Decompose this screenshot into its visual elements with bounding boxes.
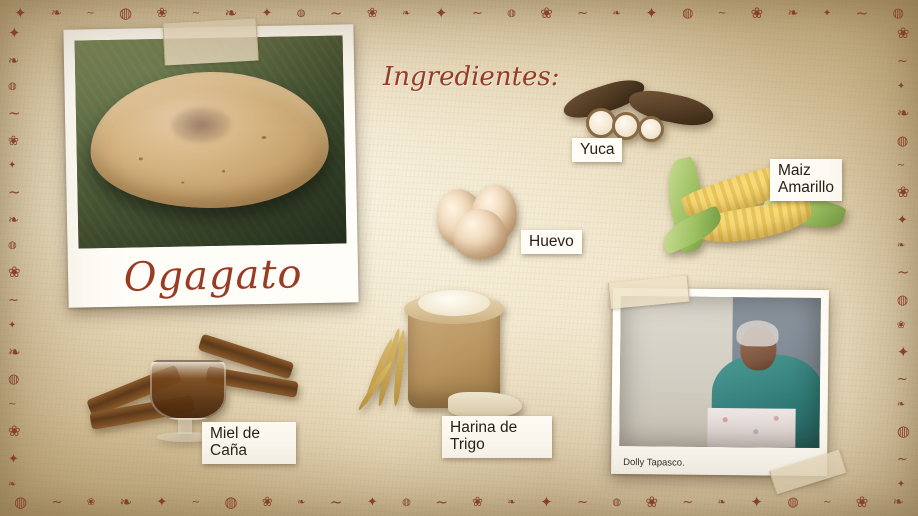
border-glyph: ❧: [8, 345, 21, 360]
border-glyph: ◍: [682, 7, 693, 20]
ingredient-harina-de-trigo[interactable]: Harina de Trigo: [352, 300, 552, 445]
border-glyph: ✦: [897, 480, 910, 490]
yuca-slice-icon: [638, 116, 664, 142]
border-glyph: ✦: [540, 495, 553, 510]
ingredient-label-maiz: Maiz Amarillo: [770, 159, 842, 201]
photo-caption: Dolly Tapasco.: [623, 457, 685, 469]
ingredient-huevo[interactable]: Huevo: [425, 185, 565, 265]
ingredients-heading: Ingredientes:: [383, 62, 560, 92]
border-glyph: ✦: [8, 321, 21, 331]
border-glyph: ✦: [897, 214, 910, 227]
border-glyph: ◍: [402, 498, 411, 508]
border-glyph: ❀: [472, 496, 483, 509]
border-glyph: ❀: [897, 321, 910, 331]
border-glyph: ◍: [787, 496, 798, 509]
border-glyph: ~: [8, 185, 21, 200]
border-glyph: ✦: [435, 6, 448, 21]
border-glyph: ◍: [8, 82, 21, 92]
border-glyph: ~: [577, 496, 588, 509]
dolly-tapasco-polaroid[interactable]: Dolly Tapasco.: [611, 288, 829, 476]
syrup-glass-icon: [150, 360, 226, 420]
border-glyph: ❀: [751, 6, 764, 21]
border-glyph: ◍: [8, 241, 21, 251]
border-glyph: ~: [192, 9, 200, 19]
border-glyph: ~: [897, 161, 910, 171]
ingredient-label-yuca: Yuca: [572, 138, 622, 162]
tape-strip-top: [163, 18, 259, 65]
ingredient-label-harina: Harina de Trigo: [442, 416, 552, 458]
border-glyph: ◍: [897, 294, 910, 307]
border-glyph: ❀: [367, 7, 378, 20]
border-glyph: ❧: [119, 495, 132, 510]
border-glyph: ◍: [119, 6, 132, 21]
ingredient-miel-de-cana[interactable]: Miel de Caña: [86, 340, 296, 452]
border-glyph: ✦: [897, 345, 910, 360]
border-glyph: ~: [897, 265, 910, 280]
bread-scene-icon: [75, 35, 347, 248]
border-glyph: ❀: [540, 6, 553, 21]
border-glyph: ❧: [897, 400, 910, 410]
border-glyph: ◍: [297, 9, 306, 19]
border-glyph: ~: [718, 9, 726, 19]
border-glyph: ❧: [8, 480, 21, 490]
yuca-slice-icon: [612, 112, 640, 140]
border-glyph: ✦: [897, 82, 910, 92]
border-glyph: ~: [51, 496, 62, 509]
border-glyph: ◍: [893, 7, 904, 20]
border-glyph: ◍: [897, 135, 910, 148]
border-glyph: ❀: [645, 495, 658, 510]
border-glyph: ~: [897, 373, 910, 386]
border-glyph: ~: [8, 400, 21, 410]
border-glyph: ◍: [224, 495, 237, 510]
border-glyph: ❧: [718, 498, 726, 508]
ingredient-label-miel: Miel de Caña: [202, 422, 296, 464]
border-glyph: ❧: [897, 241, 910, 251]
border-glyph: ◍: [14, 495, 27, 510]
border-glyph: ❀: [8, 135, 21, 148]
border-glyph: ❧: [897, 106, 910, 121]
poster-canvas: ✦❧~◍❀~❧✦◍~❀❧✦~◍❀~❧✦◍~❀❧✦~◍ ◍~❀❧✦~◍❀❧~✦◍~…: [0, 0, 918, 516]
border-glyph: ◍: [612, 498, 621, 508]
border-glyph: ~: [86, 9, 94, 19]
border-glyph: ✦: [8, 453, 21, 466]
portrait-scene-icon: [619, 296, 821, 448]
border-glyph: ❀: [262, 496, 273, 509]
page-title: Ogagato: [68, 250, 359, 302]
border-glyph: ❧: [51, 7, 62, 20]
border-glyph: ✦: [261, 7, 272, 20]
border-glyph: ❧: [893, 496, 904, 509]
border-glyph: ~: [330, 495, 343, 510]
border-glyph: ~: [472, 7, 483, 20]
border-glyph: ~: [897, 55, 910, 68]
border-glyph: ~: [435, 495, 448, 510]
border-glyph: ❀: [897, 26, 910, 41]
border-glyph: ❧: [507, 498, 515, 508]
border-glyph: ❧: [8, 55, 21, 68]
border-glyph: ✦: [14, 6, 27, 21]
ingredient-yuca[interactable]: Yuca: [556, 82, 716, 160]
border-glyph: ❀: [8, 424, 21, 439]
border-glyph: ~: [330, 6, 343, 21]
ingredient-label-huevo: Huevo: [521, 230, 582, 254]
border-glyph: ✦: [750, 495, 763, 510]
border-glyph: ~: [682, 496, 693, 509]
border-glyph: ❧: [8, 214, 21, 227]
border-frieze-bottom: ◍~❀❧✦~◍❀❧~✦◍~❀❧✦~◍❀~❧✦◍~❀❧: [0, 495, 918, 510]
border-glyph: ❀: [156, 7, 167, 20]
harina-art: [352, 300, 552, 430]
photo-vignette-icon: [619, 296, 821, 448]
border-glyph: ❀: [8, 265, 21, 280]
border-frieze-left: ✦❧◍~❀✦~❧◍❀~✦❧◍~❀✦❧: [8, 0, 21, 516]
border-glyph: ✦: [645, 6, 658, 21]
border-glyph: ~: [8, 294, 21, 307]
border-glyph: ~: [856, 6, 869, 21]
border-glyph: ❀: [897, 185, 910, 200]
border-glyph: ~: [8, 106, 21, 121]
border-frieze-right: ❀~✦❧◍~❀✦❧~◍❀✦~❧◍~✦: [897, 0, 910, 516]
border-glyph: ◍: [507, 9, 516, 19]
border-glyph: ◍: [8, 373, 21, 386]
border-glyph: ❧: [612, 9, 620, 19]
border-glyph: ~: [823, 498, 831, 508]
border-glyph: ✦: [8, 161, 21, 171]
flour-pile-icon: [418, 290, 490, 316]
tape-strip-dolly-bottom: [769, 449, 847, 494]
border-glyph: ~: [192, 498, 200, 508]
border-glyph: ~: [577, 7, 588, 20]
dolly-tapasco-photo: [619, 296, 821, 448]
border-glyph: ❧: [297, 498, 305, 508]
border-glyph: ❧: [788, 7, 799, 20]
ogagato-photo: [75, 35, 347, 248]
border-glyph: ✦: [823, 9, 831, 19]
border-glyph: ❀: [87, 498, 95, 508]
border-glyph: ◍: [897, 424, 910, 439]
border-glyph: ✦: [367, 496, 378, 509]
ingredient-maiz-amarillo[interactable]: Maiz Amarillo: [660, 155, 850, 275]
border-glyph: ✦: [156, 496, 167, 509]
flour-scoop-icon: [448, 392, 522, 418]
border-glyph: ❀: [856, 495, 869, 510]
border-frieze-top: ✦❧~◍❀~❧✦◍~❀❧✦~◍❀~❧✦◍~❀❧✦~◍: [0, 6, 918, 21]
border-glyph: ❧: [402, 9, 410, 19]
ogagato-polaroid[interactable]: Ogagato: [63, 24, 358, 308]
border-glyph: ~: [897, 453, 910, 466]
border-glyph: ✦: [8, 26, 21, 41]
